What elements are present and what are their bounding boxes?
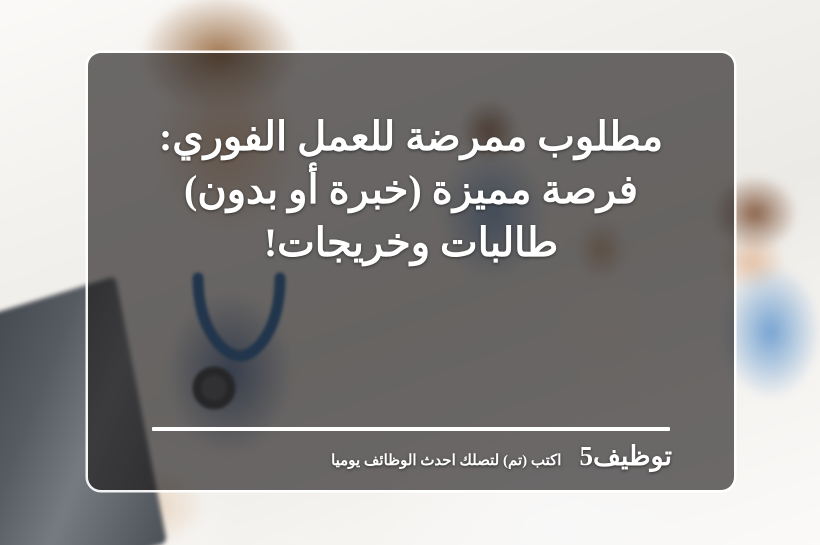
footer-divider — [152, 427, 670, 431]
headline-text: مطلوب ممرضة للعمل الفوري: فرصة مميزة (خب… — [88, 53, 734, 269]
footer-tagline: اكتب (تم) لتصلك احدث الوظائف يوميا — [331, 451, 561, 470]
text-overlay-card: مطلوب ممرضة للعمل الفوري: فرصة مميزة (خب… — [88, 53, 734, 490]
poster-image: مطلوب ممرضة للعمل الفوري: فرصة مميزة (خب… — [0, 0, 820, 545]
footer-row: توظيف5 اكتب (تم) لتصلك احدث الوظائف يومي… — [150, 441, 672, 472]
brand-name: توظيف5 — [579, 441, 672, 472]
footer-block: توظيف5 اكتب (تم) لتصلك احدث الوظائف يومي… — [88, 427, 734, 472]
